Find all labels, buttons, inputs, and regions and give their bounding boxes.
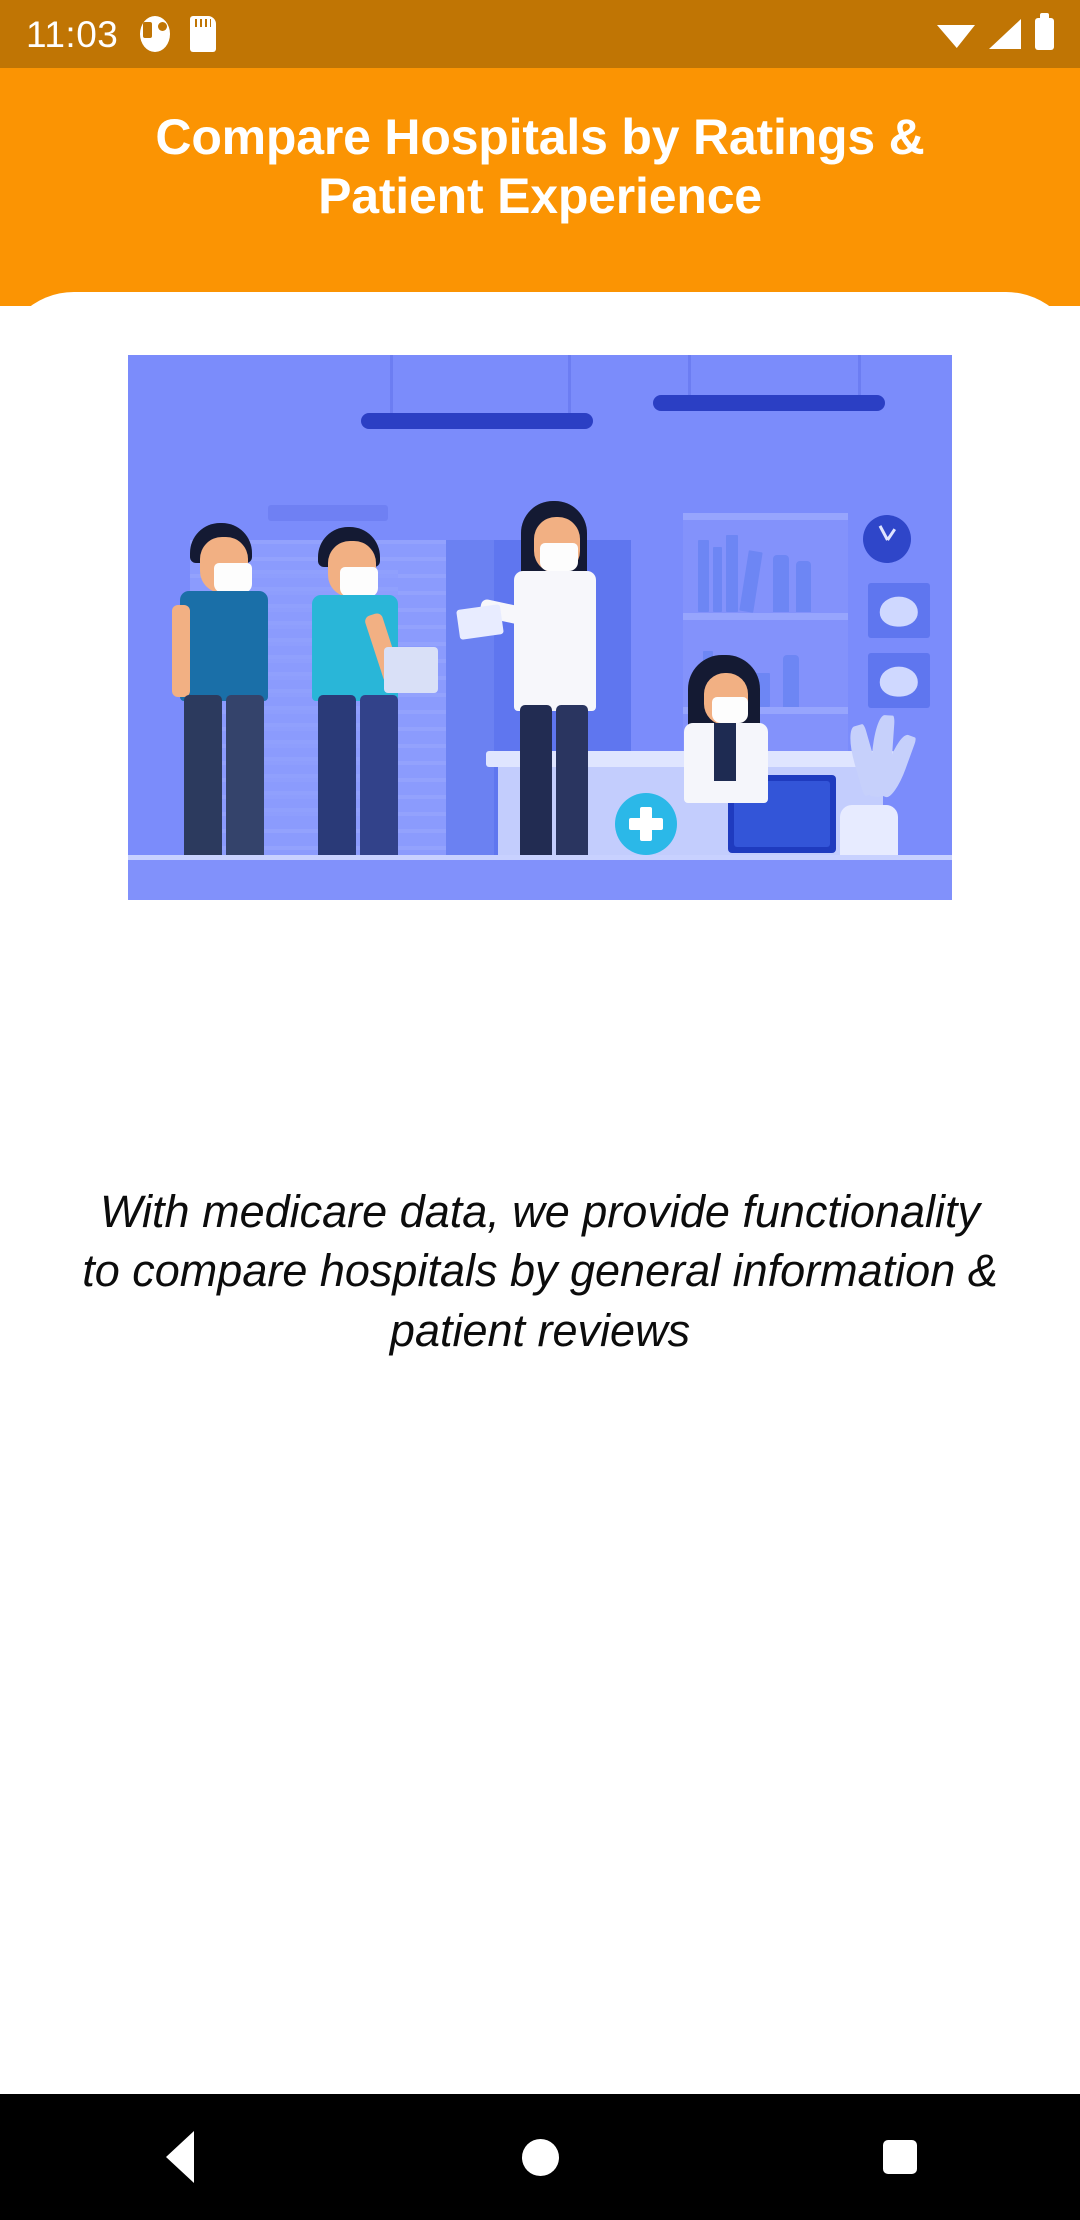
xray-frame-2 (868, 653, 930, 708)
book-10 (783, 655, 799, 707)
doctor-leg-left (520, 705, 552, 865)
shelf-line-2 (683, 613, 848, 620)
nav-home-button[interactable] (360, 2094, 720, 2220)
doctor-clipboard (456, 604, 504, 640)
cellular-signal-icon (989, 19, 1021, 49)
xray-frame-1 (868, 583, 930, 638)
hospital-reception-illustration (128, 355, 952, 900)
book-3 (726, 535, 738, 612)
doctor-leg-right (556, 705, 588, 865)
lamp-cord-2-right (858, 355, 861, 397)
back-triangle-icon (166, 2131, 194, 2183)
door-highlight (446, 540, 494, 870)
xray-image-2 (880, 666, 918, 697)
person-1-leg-left (184, 695, 222, 865)
book-6 (796, 561, 811, 612)
battery-icon (1035, 18, 1054, 50)
lamp-cord-2-left (688, 355, 691, 397)
status-bar-right-icons (937, 18, 1054, 50)
lamp-cord-right (568, 355, 571, 417)
person-1-arm (172, 605, 190, 697)
person-2-leg-right (360, 695, 398, 867)
status-bar-left-icons (140, 16, 216, 52)
receptionist-mask (712, 697, 748, 723)
nav-back-button[interactable] (0, 2094, 360, 2220)
status-bar-clock: 11:03 (26, 16, 118, 53)
xray-image-1 (880, 596, 918, 627)
book-1 (698, 540, 709, 612)
wall-sign-left (268, 505, 388, 521)
person-1-leg-right (226, 695, 264, 865)
doctor-coat (514, 571, 596, 711)
shelf-line-1 (683, 513, 848, 520)
app-header: Compare Hospitals by Ratings & Patient E… (0, 68, 1080, 306)
ceiling-lamp (361, 413, 593, 429)
onboarding-content-sheet: With medicare data, we provide functiona… (0, 292, 1080, 2094)
receptionist-shirt (714, 723, 736, 781)
book-5 (773, 555, 789, 612)
onboarding-description: With medicare data, we provide functiona… (80, 1182, 1000, 1360)
illustration-floor (128, 860, 952, 900)
page-title: Compare Hospitals by Ratings & Patient E… (70, 108, 1010, 226)
lamp-cord-left (390, 355, 393, 417)
status-bar: 11:03 (0, 0, 1080, 68)
nav-recents-button[interactable] (720, 2094, 1080, 2220)
ceiling-lamp-2 (653, 395, 885, 411)
person-2-mask (340, 567, 378, 597)
person-1-torso (180, 591, 268, 701)
android-navigation-bar (0, 2094, 1080, 2220)
doctor-mask (540, 543, 578, 571)
recents-square-icon (883, 2140, 917, 2174)
home-circle-icon (522, 2139, 559, 2176)
wall-clock-icon (863, 515, 911, 563)
person-2-folder (384, 647, 438, 693)
clock-minute-hand (879, 525, 889, 541)
person-2-leg-left (318, 695, 356, 867)
medical-cross-icon (615, 793, 677, 855)
book-2 (713, 547, 722, 612)
person-1-mask (214, 563, 252, 593)
sd-card-icon (190, 16, 216, 52)
wifi-icon (937, 20, 975, 48)
notification-icon (140, 16, 170, 52)
